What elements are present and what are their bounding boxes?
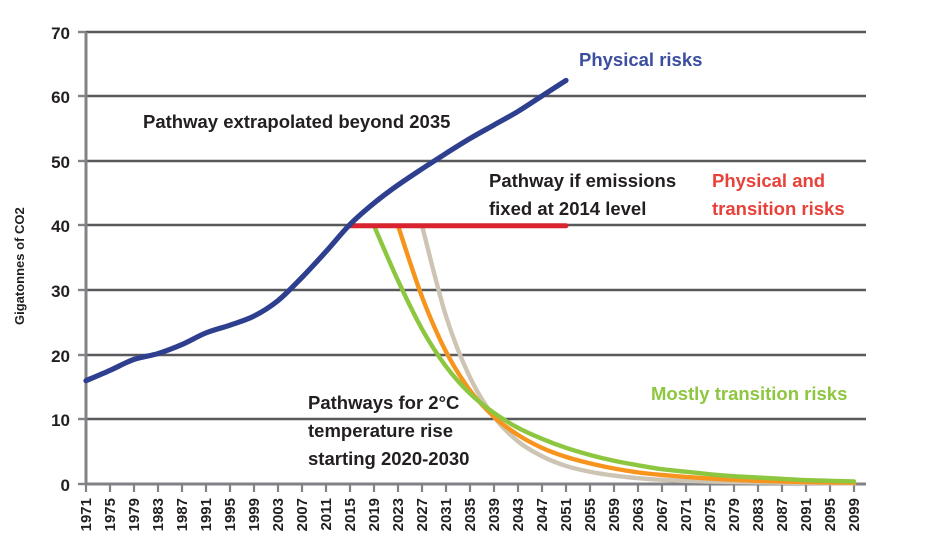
y-tick-label-60: 60 bbox=[51, 88, 70, 107]
x-tick-label-1991: 1991 bbox=[198, 498, 215, 531]
x-tick-label-2007: 2007 bbox=[294, 498, 311, 531]
chart-canvas: 70 60 50 40 30 20 10 0 Gigatonnes of CO2… bbox=[0, 0, 948, 546]
x-tick-label-1971: 1971 bbox=[78, 498, 95, 531]
x-tick-label-2075: 2075 bbox=[702, 498, 719, 531]
y-tick-label-20: 20 bbox=[51, 347, 70, 366]
x-tick-label-2027: 2027 bbox=[414, 498, 431, 531]
x-tick-label-2091: 2091 bbox=[798, 498, 815, 531]
x-tick-label-2095: 2095 bbox=[822, 498, 839, 531]
y-axis-title: Gigatonnes of CO2 bbox=[12, 207, 27, 325]
x-tick-label-1995: 1995 bbox=[222, 498, 239, 531]
y-axis-tick-labels: 70 60 50 40 30 20 10 0 bbox=[51, 24, 70, 495]
y-tick-label-30: 30 bbox=[51, 282, 70, 301]
axes bbox=[78, 32, 866, 492]
x-tick-label-2039: 2039 bbox=[486, 498, 503, 531]
x-tick-label-2079: 2079 bbox=[726, 498, 743, 531]
x-tick-label-2015: 2015 bbox=[342, 498, 359, 531]
x-tick-label-2003: 2003 bbox=[270, 498, 287, 531]
x-tick-label-2023: 2023 bbox=[390, 498, 407, 531]
x-tick-label-2059: 2059 bbox=[606, 498, 623, 531]
annotation-fixed-emissions-line1: Pathway if emissions bbox=[489, 170, 676, 191]
x-axis-tick-labels: 1971197519791983198719911995199920032007… bbox=[78, 498, 863, 531]
x-tick-label-2035: 2035 bbox=[462, 498, 479, 531]
x-tick-label-2067: 2067 bbox=[654, 498, 671, 531]
annotation-two-degree-line2: temperature rise bbox=[308, 420, 453, 441]
x-tick-label-2099: 2099 bbox=[846, 498, 863, 531]
legend-mostly-transition-risks: Mostly transition risks bbox=[651, 383, 847, 404]
emissions-pathways-chart: 70 60 50 40 30 20 10 0 Gigatonnes of CO2… bbox=[0, 0, 948, 546]
x-tick-label-2063: 2063 bbox=[630, 498, 647, 531]
x-tick-label-1975: 1975 bbox=[102, 498, 119, 531]
legend-physical-transition-risks-line1: Physical and bbox=[712, 170, 825, 191]
x-tick-label-2047: 2047 bbox=[534, 498, 551, 531]
x-tick-label-2051: 2051 bbox=[558, 498, 575, 531]
x-tick-label-2019: 2019 bbox=[366, 498, 383, 531]
annotations-layer: Pathway extrapolated beyond 2035 Pathway… bbox=[143, 49, 847, 469]
x-tick-label-2055: 2055 bbox=[582, 498, 599, 531]
data-series-layer bbox=[86, 80, 854, 483]
y-tick-label-50: 50 bbox=[51, 153, 70, 172]
legend-physical-transition-risks-line2: transition risks bbox=[712, 198, 845, 219]
x-tick-label-1979: 1979 bbox=[126, 498, 143, 531]
x-tick-label-2071: 2071 bbox=[678, 498, 695, 531]
y-tick-label-70: 70 bbox=[51, 24, 70, 43]
x-tick-label-2031: 2031 bbox=[438, 498, 455, 531]
annotation-pathway-extrapolated: Pathway extrapolated beyond 2035 bbox=[143, 111, 450, 132]
x-tick-label-2083: 2083 bbox=[750, 498, 767, 531]
x-tick-label-2087: 2087 bbox=[774, 498, 791, 531]
legend-physical-risks: Physical risks bbox=[579, 49, 702, 70]
x-tick-label-2043: 2043 bbox=[510, 498, 527, 531]
y-tick-label-40: 40 bbox=[51, 217, 70, 236]
x-tick-label-1999: 1999 bbox=[246, 498, 263, 531]
x-tick-label-1983: 1983 bbox=[150, 498, 167, 531]
annotation-two-degree-line1: Pathways for 2°C bbox=[308, 392, 459, 413]
y-tick-label-10: 10 bbox=[51, 411, 70, 430]
x-tick-label-2011: 2011 bbox=[318, 498, 335, 531]
x-tick-label-1987: 1987 bbox=[174, 498, 191, 531]
annotation-two-degree-line3: starting 2020-2030 bbox=[308, 448, 469, 469]
y-tick-label-0: 0 bbox=[61, 476, 70, 495]
annotation-fixed-emissions-line2: fixed at 2014 level bbox=[489, 198, 646, 219]
